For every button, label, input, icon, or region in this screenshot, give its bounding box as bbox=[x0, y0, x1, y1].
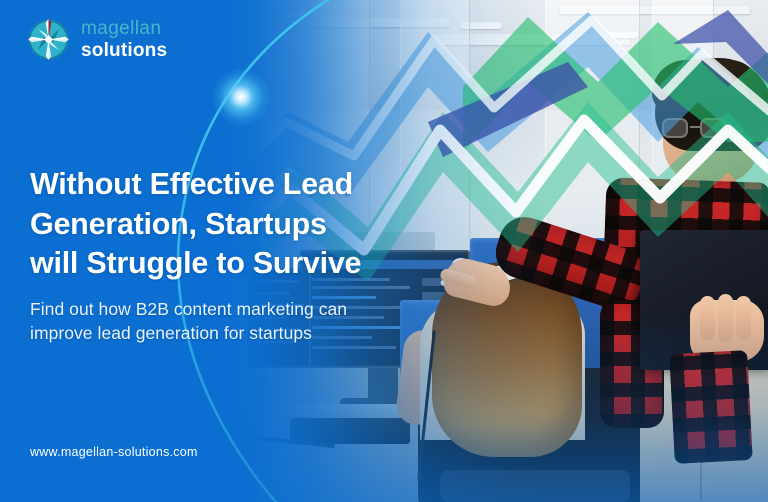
monitor-stand bbox=[368, 368, 398, 402]
headline-line-3: will Struggle to Survive bbox=[30, 244, 460, 284]
eyeglasses-left-lens bbox=[662, 118, 688, 138]
desk-leg bbox=[246, 426, 256, 502]
website-url[interactable]: www.magellan-solutions.com bbox=[30, 445, 198, 459]
eyeglasses-right-lens bbox=[700, 118, 726, 138]
subheadline-line-1: Find out how B2B content marketing can bbox=[30, 297, 460, 321]
logo-brand-suffix: solutions bbox=[81, 41, 167, 60]
page-title: Without Effective Lead Generation, Start… bbox=[30, 165, 460, 284]
logo-brand-name: magellan bbox=[81, 19, 167, 38]
blog-hero-banner: magellan solutions Without Effective Lea… bbox=[0, 0, 768, 502]
compass-rose-icon bbox=[26, 17, 71, 62]
man-hair-fringe bbox=[652, 60, 760, 112]
man-finger bbox=[718, 294, 733, 342]
hero-copy-block: Without Effective Lead Generation, Start… bbox=[30, 165, 460, 345]
magellan-solutions-logo[interactable]: magellan solutions bbox=[26, 17, 167, 62]
logo-wordmark: magellan solutions bbox=[81, 19, 167, 60]
office-chair-base bbox=[440, 470, 630, 502]
page-subtitle: Find out how B2B content marketing can i… bbox=[30, 297, 460, 345]
headline-line-1: Without Effective Lead bbox=[30, 165, 460, 205]
eyeglasses-bridge bbox=[690, 126, 700, 128]
keyboard bbox=[290, 418, 410, 444]
man-finger bbox=[736, 296, 751, 340]
subheadline-line-2: improve lead generation for startups bbox=[30, 321, 460, 345]
headline-line-2: Generation, Startups bbox=[30, 205, 460, 245]
man-finger bbox=[700, 296, 715, 340]
man-plaid-cuff bbox=[669, 350, 753, 464]
